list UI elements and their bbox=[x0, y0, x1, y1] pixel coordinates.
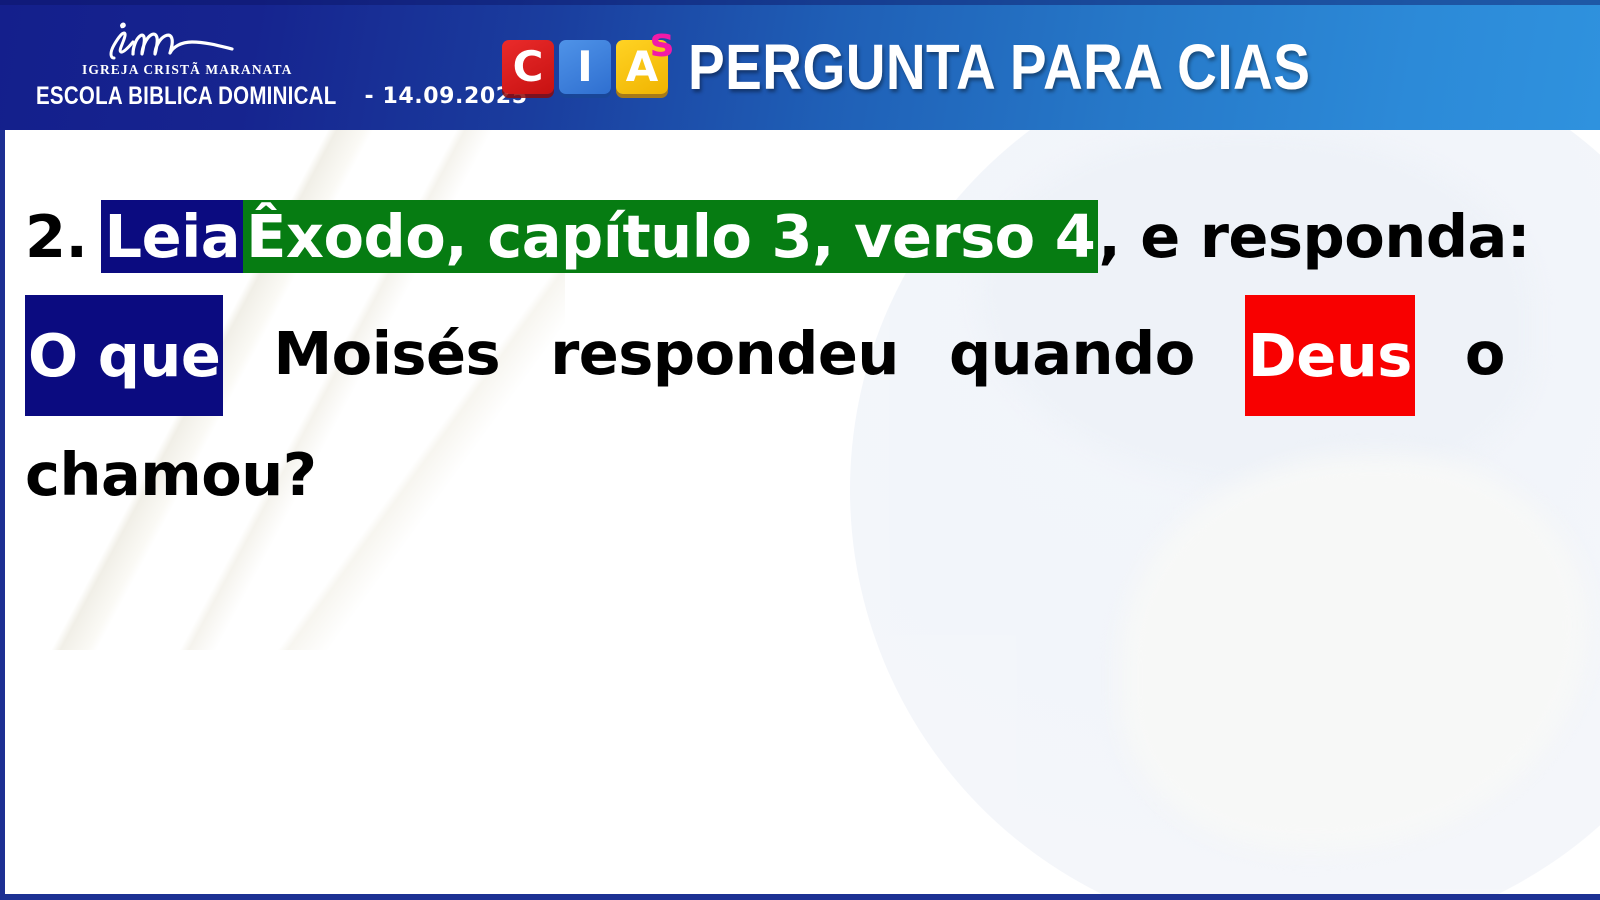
question-line1-tail: , e responda: bbox=[1098, 202, 1530, 271]
cias-block-i: I bbox=[559, 40, 611, 94]
cias-block-c: C bbox=[502, 40, 554, 94]
slide-body: 2.LeiaÊxodo, capítulo 3, verso 4, e resp… bbox=[0, 130, 1600, 900]
highlight-deus: Deus bbox=[1245, 295, 1415, 416]
church-logo-block: IGREJA CRISTÃ MARANATA ESCOLA BIBLICA DO… bbox=[36, 18, 436, 113]
highlight-reference: Êxodo, capítulo 3, verso 4 bbox=[243, 200, 1098, 273]
word-chamou: chamou? bbox=[25, 440, 317, 509]
header-subtitle-label: ESCOLA BIBLICA DOMINICAL bbox=[36, 82, 336, 111]
cias-logo: C I A s bbox=[502, 32, 674, 94]
header-subtitle: ESCOLA BIBLICA DOMINICAL- 14.09.2025 bbox=[36, 82, 436, 111]
question-line-2: O queMoisésrespondeuquandoDeuso bbox=[25, 295, 1505, 416]
word-respondeu: respondeu bbox=[550, 295, 899, 416]
highlight-o-que: O que bbox=[25, 295, 223, 416]
question-number: 2. bbox=[25, 202, 87, 271]
question-text: 2.LeiaÊxodo, capítulo 3, verso 4, e resp… bbox=[25, 178, 1505, 533]
word-quando: quando bbox=[949, 295, 1195, 416]
page-title: PERGUNTA PARA CIAS bbox=[688, 30, 1310, 104]
word-o: o bbox=[1465, 295, 1505, 416]
church-wordmark: IGREJA CRISTÃ MARANATA bbox=[82, 62, 282, 78]
highlight-leia: Leia bbox=[101, 200, 243, 273]
question-line-3: chamou? bbox=[25, 416, 1505, 533]
im-monogram-icon bbox=[80, 18, 280, 62]
cias-letter-s: s bbox=[650, 23, 674, 63]
word-moises: Moisés bbox=[273, 295, 500, 416]
slide-header: IGREJA CRISTÃ MARANATA ESCOLA BIBLICA DO… bbox=[0, 0, 1600, 130]
slide: IGREJA CRISTÃ MARANATA ESCOLA BIBLICA DO… bbox=[0, 0, 1600, 900]
question-line-1: 2.LeiaÊxodo, capítulo 3, verso 4, e resp… bbox=[25, 178, 1505, 295]
